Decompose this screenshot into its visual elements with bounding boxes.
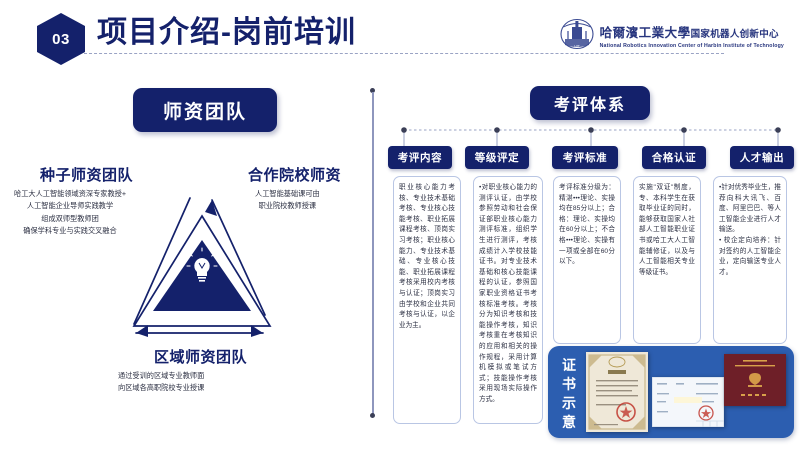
- svg-text:HIT: HIT: [574, 45, 581, 49]
- group-title-seed: 种子师资团队: [40, 164, 133, 185]
- category-pill-standard[interactable]: 考评标准: [552, 146, 618, 169]
- coop-line-1: 人工智能基础课可由: [255, 188, 320, 200]
- column-card-content: 职业核心能力考核、专业技术基础考核、专业核心技能考核、职业拓展课程考核、顶岗实习…: [393, 176, 461, 424]
- seed-line-1: 哈工大人工智能领域资深专家教授+: [14, 188, 126, 200]
- logo-english-name: National Robotics Innovation Center of H…: [600, 43, 784, 49]
- seed-line-4: 确保学科专业与实践交叉融合: [14, 225, 126, 237]
- page-title: 项目介绍-岗前培训: [97, 13, 356, 53]
- region-line-2: 向区域各高职院校专业授课: [118, 382, 204, 394]
- slide-header: 03 项目介绍-岗前培训 HIT 哈爾濱工業大學国家机器人创新中心 Nation…: [0, 0, 800, 68]
- column-card-talent-output: •针对优秀毕业生，推荐向科大讯飞、百度、阿里巴巴、等人工智能企业进行人才输送。 …: [713, 176, 787, 344]
- group-title-cooperative: 合作院校师资: [248, 164, 341, 185]
- assessment-panel: 考评体系 考评内容 等级评定 考评标准 合格认证 人才输出 职业核心能力考核、专…: [382, 78, 800, 448]
- certificate-cover-red: [724, 354, 786, 406]
- organization-logo: HIT 哈爾濱工業大學国家机器人创新中心 National Robotics I…: [559, 18, 784, 52]
- column-card-standard: 考评标准分级为：精湛•••理论、实操均在85分以上；合格：理论、实操均在60分以…: [553, 176, 621, 344]
- certificate-skill-blue: [652, 377, 724, 427]
- column-card-grading: •对职业核心能力的测评认证，由学校参照劳动和社会保证部职业核心能力测评标准，组织…: [473, 176, 543, 424]
- title-divider-rule: [84, 53, 724, 54]
- coop-line-2: 职业院校教师授课: [255, 200, 320, 212]
- group-body-regional: 通过受训的区域专业教师面 向区域各高职院校专业授课: [118, 370, 204, 395]
- logo-cn-sub: 国家机器人创新中心: [691, 29, 779, 40]
- faculty-heading: 师资团队: [133, 88, 277, 132]
- certificate-showcase-panel: 证书示意: [548, 346, 794, 438]
- assessment-heading: 考评体系: [530, 86, 650, 120]
- group-body-seed: 哈工大人工智能领域资深专家教授+ 人工智能企业导师实践教学 组成双师型教师团 确…: [14, 188, 126, 238]
- seed-line-2: 人工智能企业导师实践教学: [14, 200, 126, 212]
- column-card-certification: 实施"双证"制度，专、本科学生在获取毕业证的同时，能够获取国家人社部人工智能职业…: [633, 176, 701, 344]
- group-body-cooperative: 人工智能基础课可由 职业院校教师授课: [255, 188, 320, 213]
- category-pill-grading[interactable]: 等级评定: [465, 146, 529, 169]
- region-line-1: 通过受训的区域专业教师面: [118, 370, 204, 382]
- seed-line-3: 组成双师型教师团: [14, 213, 126, 225]
- logo-text-block: 哈爾濱工業大學国家机器人创新中心 National Robotics Innov…: [600, 22, 784, 49]
- panel-divider: [372, 88, 374, 418]
- hit-university-crest-icon: HIT: [559, 18, 595, 52]
- category-pill-certification[interactable]: 合格认证: [642, 146, 706, 169]
- divider-bar: [372, 92, 374, 414]
- certificate-honor-cream: [586, 352, 648, 432]
- faculty-panel: 师资团队 种子师资团队 哈工大人工智: [0, 78, 372, 448]
- category-pill-talent-output[interactable]: 人才输出: [730, 146, 794, 169]
- group-title-regional: 区域师资团队: [154, 346, 247, 367]
- logo-chinese-name: 哈爾濱工業大學国家机器人创新中心: [600, 22, 784, 41]
- section-number-badge: 03: [37, 13, 85, 65]
- category-pill-content[interactable]: 考评内容: [388, 146, 452, 169]
- pill-connector-lines: [382, 126, 800, 148]
- logo-cn-main: 哈爾濱工業大學: [600, 25, 691, 40]
- certificate-showcase-label: 证书示意: [558, 356, 580, 432]
- section-number-label: 03: [52, 31, 70, 48]
